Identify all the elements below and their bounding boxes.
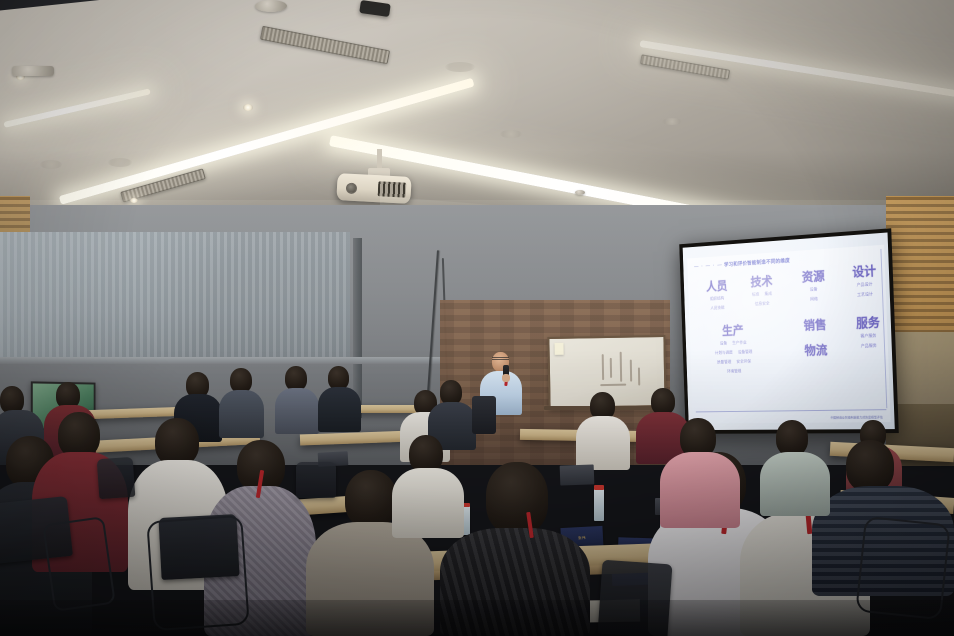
attendee-body xyxy=(275,388,319,434)
water-bottle-2[interactable] xyxy=(594,488,604,521)
category-sub-2: 生产作业 xyxy=(732,339,747,347)
meeting-room-photo: — · — · — 学习和评价智能制造不同的维度 人员 组织结构 人员技能 技术… xyxy=(0,0,954,636)
category-sub-1: 设备 xyxy=(792,284,836,294)
category-sub-7: 环境管理 xyxy=(704,367,764,376)
whiteboard-mark-5 xyxy=(600,384,626,386)
downlight-dim-5 xyxy=(662,118,682,125)
slide-category-service: 服务 客户服务 产品服务 xyxy=(844,316,893,351)
category-sub-2: 网络 xyxy=(792,294,836,304)
category-label: 销售 xyxy=(793,319,837,334)
downlight-3 xyxy=(130,198,138,203)
attendee-body xyxy=(219,390,264,438)
attendee-body xyxy=(760,452,830,516)
ceiling-projector xyxy=(336,173,411,204)
presenter-glasses-icon xyxy=(492,357,509,360)
presenter-hand xyxy=(502,374,510,382)
attendee-body xyxy=(392,468,464,538)
slide-title-text: 学习和评价智能制造不同的维度 xyxy=(724,258,790,268)
chair-4[interactable] xyxy=(97,457,136,499)
tent-card-name: 张伟 xyxy=(578,535,586,540)
category-sub-6: 安全环保 xyxy=(736,358,751,366)
attendee-body xyxy=(660,452,740,528)
chair-5[interactable] xyxy=(296,462,336,498)
slide-category-logistics: 物流 xyxy=(794,344,838,358)
projector-vent-grill xyxy=(378,181,407,197)
category-sub-1: 标准 xyxy=(752,291,760,299)
downlight-dim-4 xyxy=(500,130,522,138)
downlight-dim-3 xyxy=(445,62,475,72)
whiteboard-mark-2 xyxy=(610,358,612,378)
attendee-body xyxy=(318,387,361,432)
category-sub-4: 设备管理 xyxy=(738,348,753,356)
ceiling-speaker-disc xyxy=(255,0,287,12)
wall-horizontal-band xyxy=(0,357,440,364)
whiteboard-mark-1 xyxy=(602,354,604,380)
attendee-head xyxy=(776,420,808,456)
attendee-body xyxy=(576,416,630,470)
category-label: 资源 xyxy=(791,270,835,285)
category-sub-3: 计划与调度 xyxy=(715,349,733,357)
chair-arm-1 xyxy=(42,516,116,612)
slide-content: — · — · — 学习和评价智能制造不同的维度 人员 组织结构 人员技能 技术… xyxy=(687,245,890,424)
downlight-dim-2 xyxy=(108,158,132,167)
attendee-head xyxy=(486,462,548,534)
attendee-head xyxy=(345,470,397,528)
window-blinds-sheen xyxy=(0,232,350,357)
category-sub-2: 人员技能 xyxy=(699,303,737,312)
whiteboard-mark-4 xyxy=(630,360,632,382)
whiteboard-mark-3 xyxy=(620,352,622,382)
slide-category-sales: 销售 xyxy=(793,319,837,334)
category-sub-3: 信息安全 xyxy=(738,299,787,309)
category-label: 服务 xyxy=(844,316,892,331)
ceiling-smoke-detector xyxy=(575,190,585,195)
lectern xyxy=(472,396,496,434)
category-label: 物流 xyxy=(794,344,838,358)
downlight-2 xyxy=(243,104,253,111)
attendee-head xyxy=(651,388,675,415)
attendee-head xyxy=(846,440,894,492)
downlight-dim-1 xyxy=(40,160,62,169)
slide-divider-line xyxy=(696,406,887,412)
laptop-1[interactable] xyxy=(560,464,595,485)
whiteboard-sticky-note xyxy=(554,343,563,355)
category-sub-1: 客户服务 xyxy=(845,331,893,341)
slide-category-technology: 技术 标准 集成 信息安全 xyxy=(737,275,787,309)
category-sub-2: 产品服务 xyxy=(845,341,893,351)
projection-screen: — · — · — 学习和评价智能制造不同的维度 人员 组织结构 人员技能 技术… xyxy=(683,232,895,430)
category-sub-5: 质量管理 xyxy=(717,358,732,366)
projection-screen-frame: — · — · — 学习和评价智能制造不同的维度 人员 组织结构 人员技能 技术… xyxy=(679,228,899,434)
slide-category-resource: 资源 设备 网络 xyxy=(791,270,836,305)
whiteboard-mark-6 xyxy=(638,367,640,385)
slide-category-production: 生产 设备 生产作业 计划与调度 设备管理 质量管理 安全环保 xyxy=(703,324,765,376)
category-sub-2: 集成 xyxy=(764,290,772,298)
category-sub-1: 设备 xyxy=(720,340,727,348)
slide-footer-text: 中国制造业智能制造能力成熟度模型评估 xyxy=(830,414,882,419)
attendee-head xyxy=(155,418,199,466)
slide-title-dashes: — · — · — xyxy=(694,263,723,270)
projector-lens-icon xyxy=(346,183,358,195)
category-sub-1: 组织结构 xyxy=(698,294,736,304)
ceiling-fixture xyxy=(12,66,54,76)
floor-shadow xyxy=(0,600,954,636)
slide-body: 人员 组织结构 人员技能 技术 标准 集成 信息安全 资源 xyxy=(693,267,886,407)
bottle-cap-2 xyxy=(594,485,604,490)
slide-category-people: 人员 组织结构 人员技能 xyxy=(698,280,736,313)
category-label: 人员 xyxy=(698,280,736,294)
